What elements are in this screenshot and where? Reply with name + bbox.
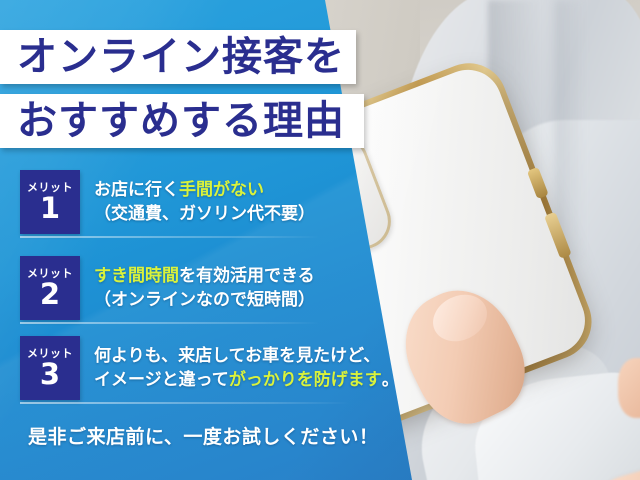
merit-badge-1: メリット 1: [20, 170, 80, 234]
jacket-fold-shadow-2: [555, 0, 585, 260]
merit-line-2b: （オンラインなので短時間）: [94, 288, 315, 312]
merit-text-plain: （オンラインなので短時間）: [94, 290, 315, 310]
merit-line-3a: 何よりも、来店してお車を見たけど、: [94, 344, 399, 368]
pinky-finger: [618, 358, 640, 418]
merit-badge-2: メリット 2: [20, 256, 80, 320]
merit-badge-3: メリット 3: [20, 336, 80, 400]
headline-box-line1: オンライン接客を: [0, 30, 356, 84]
merit-item-1: メリット 1 お店に行く手間がない （交通費、ガソリン代不要）: [20, 170, 315, 234]
promo-banner: オンライン接客を おすすめする理由 メリット 1 お店に行く手間がない （交通費…: [0, 0, 640, 480]
merit-text-plain-tail: を有効活用できる: [179, 266, 315, 286]
merit-badge-number: 2: [40, 280, 60, 309]
merit-text-plain: （交通費、ガソリン代不要）: [94, 204, 315, 224]
merit-text-highlight: すき間時間: [94, 266, 179, 286]
merit-text-plain: イメージと違って: [94, 370, 229, 390]
merit-separator-3: [20, 402, 350, 404]
merit-text-2: すき間時間を有効活用できる （オンラインなので短時間）: [80, 256, 315, 320]
merit-badge-number: 3: [40, 360, 60, 389]
merit-line-3b: イメージと違ってがっかりを防げます。: [94, 368, 399, 392]
merit-badge-number: 1: [40, 194, 60, 223]
headline-box-line2: おすすめする理由: [0, 94, 364, 148]
merit-text-plain: お店に行く: [94, 180, 179, 200]
merit-text-plain-tail: 。: [382, 370, 399, 390]
merit-line-1b: （交通費、ガソリン代不要）: [94, 202, 315, 226]
footer-call-to-action: 是非ご来店前に、一度お試しください！: [28, 422, 378, 449]
headline-line1: オンライン接客を: [0, 37, 345, 77]
merit-text-highlight: がっかりを防げます: [229, 370, 382, 390]
merit-item-3: メリット 3 何よりも、来店してお車を見たけど、 イメージと違ってがっかりを防げ…: [20, 336, 399, 400]
merit-text-1: お店に行く手間がない （交通費、ガソリン代不要）: [80, 170, 315, 234]
merit-text-highlight: 手間がない: [179, 180, 264, 200]
merit-item-2: メリット 2 すき間時間を有効活用できる （オンラインなので短時間）: [20, 256, 315, 320]
headline-line2: おすすめする理由: [0, 101, 345, 141]
merit-line-1a: お店に行く手間がない: [94, 178, 315, 202]
merit-line-2a: すき間時間を有効活用できる: [94, 264, 315, 288]
merit-text-3: 何よりも、来店してお車を見たけど、 イメージと違ってがっかりを防げます。: [80, 336, 399, 400]
merit-separator-1: [20, 236, 320, 238]
merit-separator-2: [20, 322, 320, 324]
merit-text-plain: 何よりも、来店してお車を見たけど、: [94, 346, 380, 366]
